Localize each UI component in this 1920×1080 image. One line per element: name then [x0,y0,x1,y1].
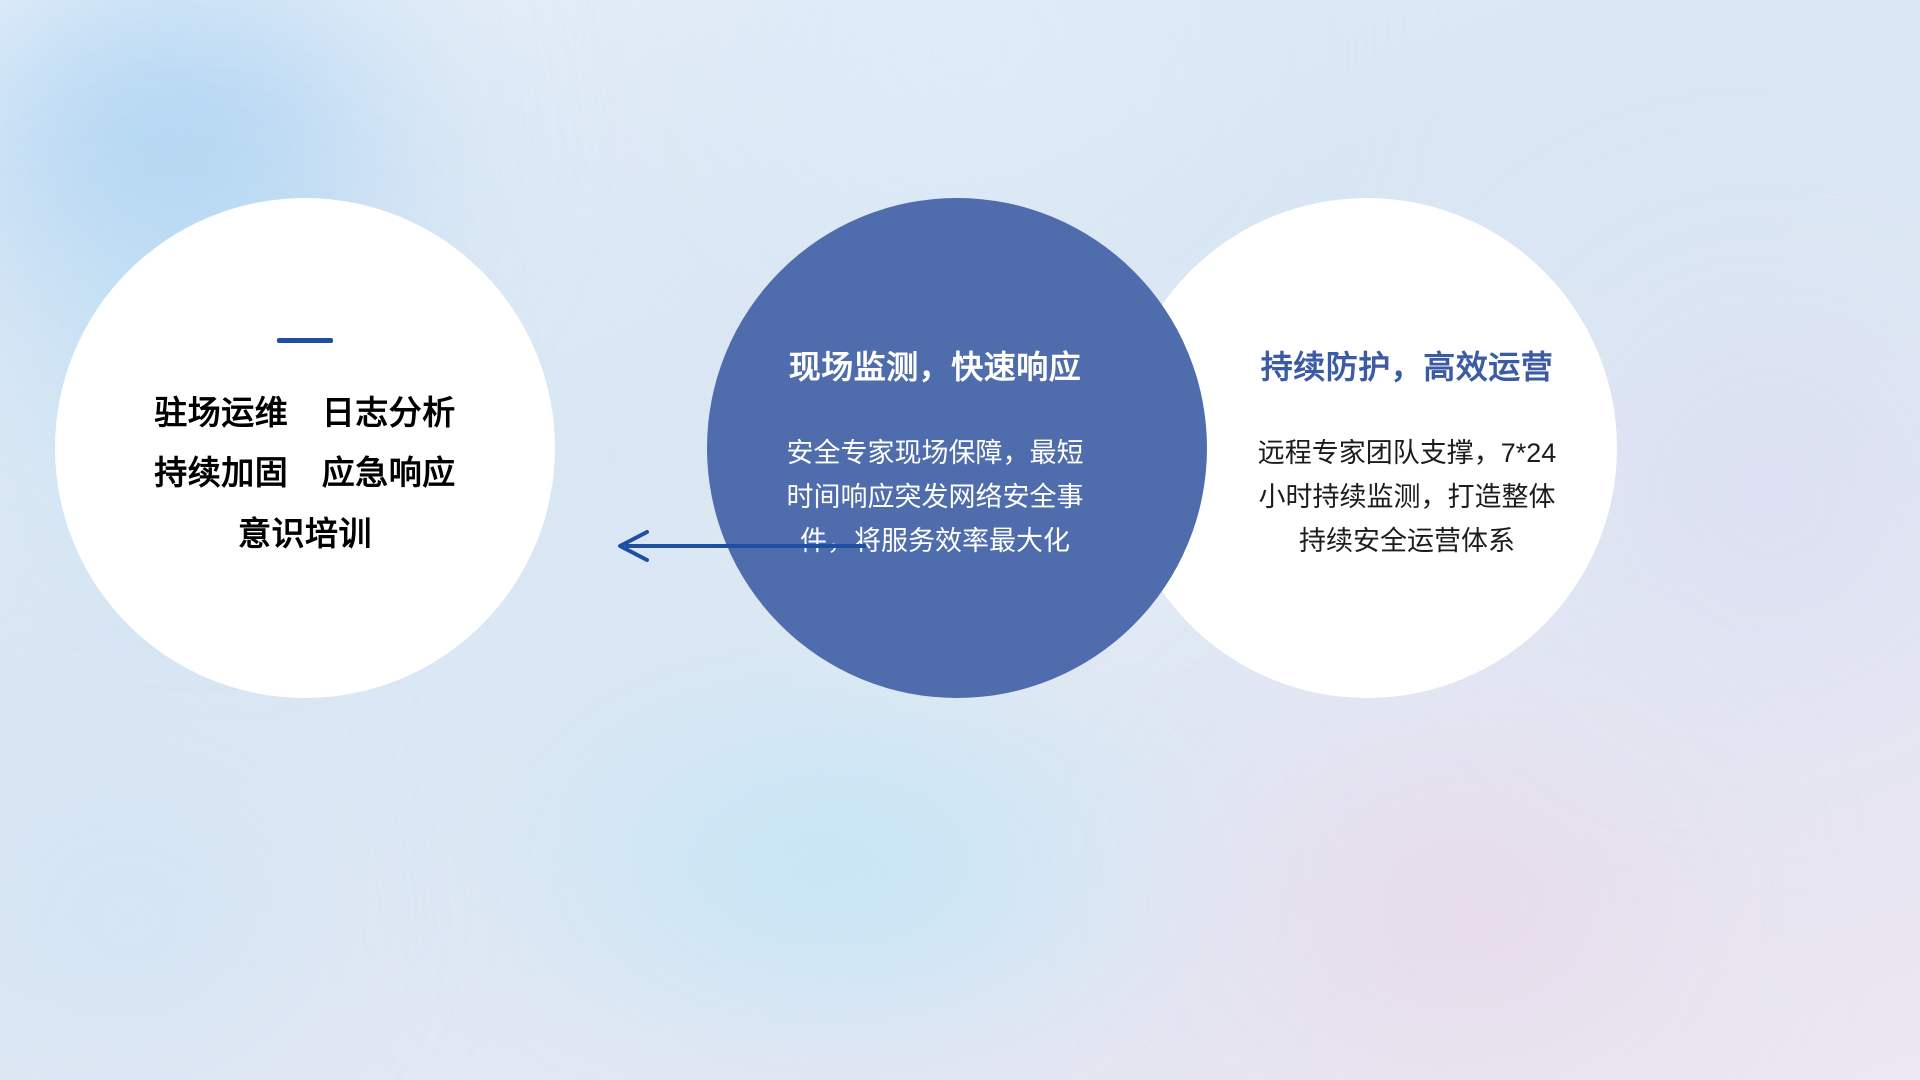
slide-canvas: 驻场运维 日志分析 持续加固 应急响应 意识培训 现场监测，快速响应 安全专家现… [0,0,1920,1080]
middle-card-title: 现场监测，快速响应 [789,348,1082,386]
right-card-title: 持续防护，高效运营 [1261,348,1554,386]
left-service-circle[interactable]: 驻场运维 日志分析 持续加固 应急响应 意识培训 [55,198,555,698]
left-service-list: 驻场运维 日志分析 持续加固 应急响应 意识培训 [154,395,456,552]
middle-onsite-circle[interactable]: 现场监测，快速响应 安全专家现场保障，最短时间响应突发网络安全事件，将服务效率最… [707,198,1207,698]
list-item: 持续加固 应急响应 [154,455,456,491]
list-item: 驻场运维 日志分析 [154,395,456,431]
list-item: 意识培训 [238,516,372,552]
title-divider-rule [277,338,333,343]
middle-card-body: 安全专家现场保障，最短时间响应突发网络安全事件，将服务效率最大化 [785,432,1085,563]
right-card-body: 远程专家团队支撑，7*24小时持续监测，打造整体持续安全运营体系 [1257,432,1557,563]
